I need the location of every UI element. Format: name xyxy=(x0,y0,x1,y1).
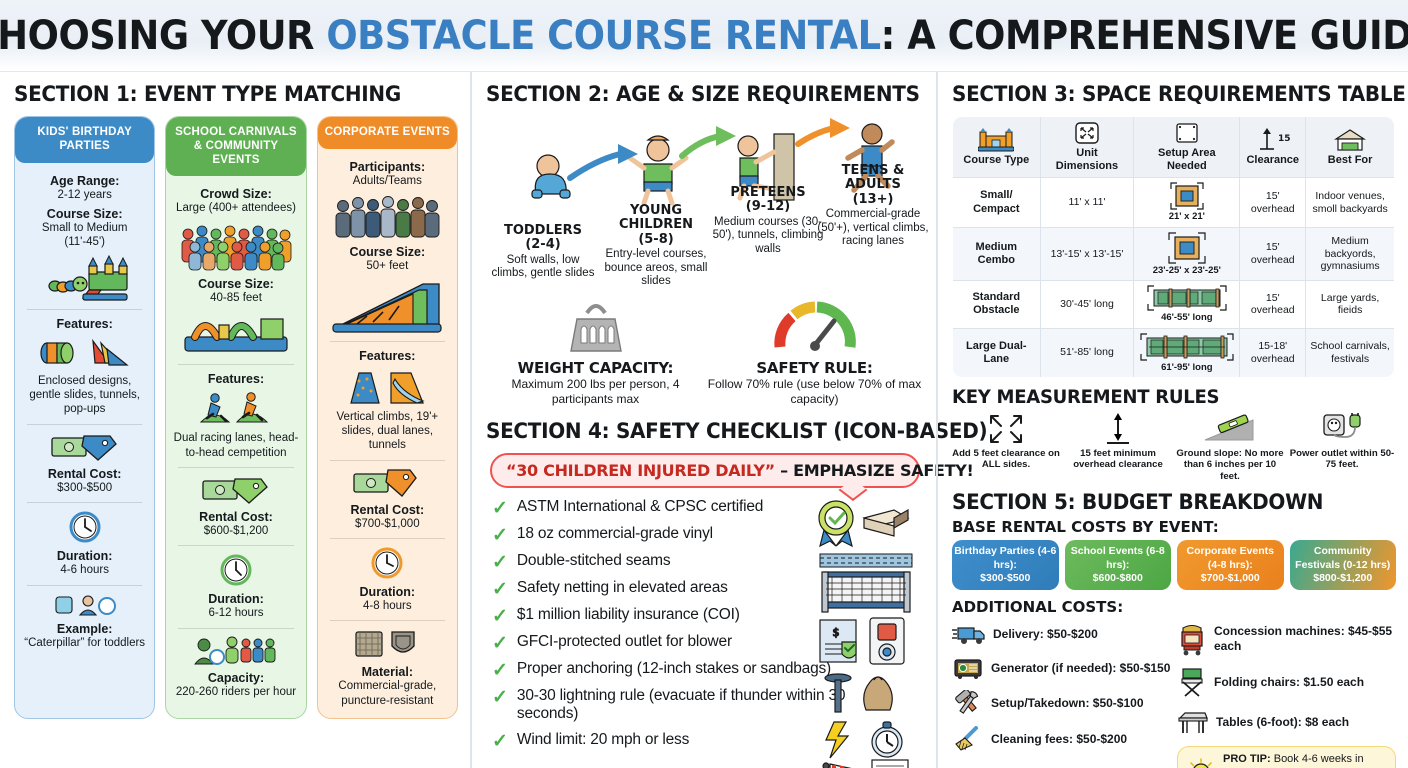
th-label: Best For xyxy=(1328,154,1373,166)
cost-label: Generator (if needed): $50-$150 xyxy=(991,661,1170,675)
clock-icon xyxy=(21,510,148,544)
row-label: Rental Cost: xyxy=(172,510,299,524)
checklist-label: Proper anchoring (12-inch stakes or sand… xyxy=(517,660,831,678)
cell-clearance: 15' overhead xyxy=(1240,178,1306,227)
expand-arrows-icon xyxy=(1044,121,1131,145)
th-label: Setup Area Needed xyxy=(1158,147,1216,172)
card-row-rental-cost: Rental Cost: $600-$1,200 xyxy=(172,510,299,538)
table-row: Medium Cembo 13'-15' x 13'-15' xyxy=(953,227,1395,280)
row-value: Enclosed designs, gentle slides, tunnels… xyxy=(21,374,148,417)
cost-delivery: Delivery: $50-$200 xyxy=(952,622,1171,646)
row-label: Rental Cost: xyxy=(21,467,148,481)
money-tag-icon xyxy=(324,468,451,498)
cost-tables: Tables (6-foot): $8 each xyxy=(1177,708,1396,736)
row-label: Capacity: xyxy=(172,671,299,685)
four-arrows-icon xyxy=(952,412,1060,446)
setup-square-medium-icon xyxy=(1137,232,1236,264)
check-icon: ✓ xyxy=(492,499,508,518)
age-title: YOUNG CHILDREN xyxy=(619,203,693,232)
cost-label: Tables (6-foot): $8 each xyxy=(1216,715,1349,729)
climb-wall-slide-icon xyxy=(324,367,451,405)
row-value: “Caterpillar” for toddlers xyxy=(21,636,148,650)
cell-clearance: 15' overhead xyxy=(1240,281,1306,328)
card-corporate-events[interactable]: CORPORATE EVENTS Participants: Adults/Te… xyxy=(317,116,458,719)
column-section-2-4: SECTION 2: AGE & SIZE REQUIREMENTS xyxy=(470,72,936,768)
setup-dim-label: 46'-55' long xyxy=(1137,312,1236,323)
table-header-row: Course Type xyxy=(953,117,1395,178)
gauge-icon xyxy=(705,299,924,355)
age-progression: TODDLERS(2-4) Soft walls, low climbs, ge… xyxy=(486,116,924,291)
row-value: Vertical climbs, 19'+ slides, dual lanes… xyxy=(324,410,451,453)
capacity-safety-row: WEIGHT CAPACITY: Maximum 200 lbs per per… xyxy=(486,295,924,407)
rule-label: Power outlet within 50-75 feet. xyxy=(1288,448,1396,471)
row-value: Small to Medium (11'-45') xyxy=(21,221,148,250)
venue-building-icon xyxy=(1309,128,1391,152)
age-group-toddlers: TODDLERS(2-4) Soft walls, low climbs, ge… xyxy=(488,224,598,281)
setup-dim-label: 61'-95' long xyxy=(1137,362,1236,373)
row-label: Features: xyxy=(21,317,148,331)
pill-name: Corporate Events (4-8 hrs): xyxy=(1186,545,1274,570)
capacity-people-icon xyxy=(172,636,299,666)
row-value: Dual racing lanes, head-to-head cempetit… xyxy=(172,431,299,460)
th-label: Course Type xyxy=(963,154,1029,166)
age-title: PRETEENS xyxy=(730,185,805,200)
th-setup-area: Setup Area Needed xyxy=(1134,117,1240,178)
cell-clearance: 15' overhead xyxy=(1240,227,1306,280)
cell-setup-area: 61'-95' long xyxy=(1134,328,1240,377)
row-label: Age Range: xyxy=(21,174,148,188)
money-tag-icon xyxy=(21,432,148,462)
card-row-course-size: Course Size: 50+ feet xyxy=(324,245,451,273)
cell-course-type: Standard Obstacle xyxy=(953,281,1041,328)
crowd-icon xyxy=(172,220,299,272)
event-type-cards: KIDS' BIRTHDAY PARTIES Age Range: 2-12 y… xyxy=(14,116,458,719)
row-label: Participants: xyxy=(324,160,451,174)
cost-concession-machines: Concession machines: $45-$55 each xyxy=(1177,622,1396,656)
age-range: (13+) xyxy=(853,192,894,207)
additional-costs: Delivery: $50-$200 Genera xyxy=(952,622,1396,768)
card-row-features: Features: xyxy=(172,372,299,386)
infographic-page: CHOOSING YOUR OBSTACLE COURSE RENTAL: A … xyxy=(0,0,1408,768)
row-label: Example: xyxy=(21,622,148,636)
cell-course-type: Small/ Cempact xyxy=(953,178,1041,227)
card-features-value: Vertical climbs, 19'+ slides, dual lanes… xyxy=(324,410,451,453)
delivery-truck-icon xyxy=(952,622,986,646)
card-features-value: Dual racing lanes, head-to-head cempetit… xyxy=(172,431,299,460)
title-accent: OBSTACLE COURSE RENTAL xyxy=(326,13,880,59)
card-title: SCHOOL CARNIVALS & COMMUNITY EVENTS xyxy=(166,117,305,176)
broom-icon xyxy=(952,726,984,752)
tall-slide-course-icon xyxy=(324,278,451,334)
additional-costs-left: Delivery: $50-$200 Genera xyxy=(952,622,1171,768)
age-range: (2-4) xyxy=(525,237,560,252)
age-range: (9-12) xyxy=(746,199,790,214)
checklist-label: ASTM International & CPSC certified xyxy=(517,498,763,516)
cost-label: Cleaning fees: $50-$200 xyxy=(991,732,1127,746)
cost-cleaning: Cleaning fees: $50-$200 xyxy=(952,726,1171,752)
card-title: KIDS' BIRTHDAY PARTIES xyxy=(15,117,154,163)
card-row-rental-cost: Rental Cost: $300-$500 xyxy=(21,467,148,495)
setup-square-small-icon xyxy=(1137,182,1236,210)
age-desc: Soft walls, low climbs, gentle slides xyxy=(488,254,598,282)
folding-chair-icon xyxy=(1177,666,1207,698)
card-row-age-range: Age Range: 2-12 years xyxy=(21,174,148,202)
check-icon: ✓ xyxy=(492,580,508,599)
space-requirements-table: Course Type xyxy=(952,116,1395,378)
cell-course-type: Large Dual-Lane xyxy=(953,328,1041,377)
cell-course-type: Medium Cembo xyxy=(953,227,1041,280)
measurement-rule: 15 feet minimum overhead clearance xyxy=(1064,412,1172,483)
checklist-label: 30-30 lightning rule (evacuate if thunde… xyxy=(517,687,847,724)
checklist-label: Safety netting in elevated areas xyxy=(517,579,728,597)
safety-rule-desc: Follow 70% rule (use below 70% of max ca… xyxy=(705,377,924,407)
row-label: Rental Cost: xyxy=(324,503,451,517)
measurement-rule: Add 5 feet clearance on ALL sides. xyxy=(952,412,1060,483)
th-course-type: Course Type xyxy=(953,117,1041,178)
row-label: Course Size: xyxy=(21,207,148,221)
row-value: $700-$1,000 xyxy=(324,517,451,531)
age-group-teens-adults: TEENS & ADULTS(13+) Commercial-grade (50… xyxy=(814,164,932,249)
power-outlet-icon xyxy=(1288,412,1396,446)
section-5-heading: SECTION 5: BUDGET BREAKDOWN xyxy=(952,490,1374,514)
column-section-1: SECTION 1: EVENT TYPE MATCHING KIDS' BIR… xyxy=(0,72,470,768)
column-section-3-5: SECTION 3: SPACE REQUIREMENTS TABLE xyxy=(936,72,1408,768)
cost-setup-takedown: Setup/Takedown: $50-$100 xyxy=(952,690,1171,716)
measurement-rules-heading: KEY MEASUREMENT RULES xyxy=(952,386,1374,408)
card-title: CORPORATE EVENTS xyxy=(318,117,457,149)
pill-birthday-parties[interactable]: Birthday Parties (4-6 hrs): $300-$500 xyxy=(952,540,1059,589)
age-desc: Entry-level courses, bounce areos, small… xyxy=(596,248,716,289)
generator-icon xyxy=(952,656,984,680)
cost-folding-chairs: Folding chairs: $1.50 each xyxy=(1177,666,1396,698)
svg-text:$: $ xyxy=(833,626,840,639)
age-desc: Commercial-grade (50'+), vertical climbs… xyxy=(814,208,932,249)
castle-icon xyxy=(956,128,1037,152)
card-row-course-size: Course Size: 40-85 feet xyxy=(172,277,299,305)
table-row: Large Dual-Lane 51'-85' long xyxy=(953,328,1395,377)
cell-unit-dimensions: 51'-85' long xyxy=(1040,328,1134,377)
th-label: Clearance xyxy=(1246,154,1299,166)
section-2-heading: SECTION 2: AGE & SIZE REQUIREMENTS xyxy=(486,82,902,106)
page-header: CHOOSING YOUR OBSTACLE COURSE RENTAL: A … xyxy=(0,0,1408,72)
weight-capacity-desc: Maximum 200 lbs per person, 4 participan… xyxy=(486,377,705,407)
age-group-young-children: YOUNG CHILDREN(5-8) Entry-level courses,… xyxy=(596,204,716,289)
card-row-participants: Participants: Adults/Teams xyxy=(324,160,451,188)
vertical-arrow-icon: 15' xyxy=(1243,128,1302,152)
section-4-heading: SECTION 4: SAFETY CHECKLIST (ICON-BASED) xyxy=(486,419,902,443)
age-desc: Medium courses (30-50'), tunnels, climbi… xyxy=(708,216,828,257)
svg-text:15': 15' xyxy=(1278,134,1290,144)
cell-best-for: Indoor venues, smoll backyards xyxy=(1306,178,1395,227)
slope-level-icon xyxy=(1176,412,1284,446)
row-label: Course Size: xyxy=(172,277,299,291)
card-row-duration: Duration: 4-8 hours xyxy=(324,585,451,613)
row-value: 220-260 riders per hour xyxy=(172,685,299,699)
row-label: Duration: xyxy=(324,585,451,599)
check-icon: ✓ xyxy=(492,688,508,707)
row-label: Duration: xyxy=(21,549,148,563)
cell-unit-dimensions: 11' x 11' xyxy=(1040,178,1134,227)
setup-dim-label: 23'-25' x 23'-25' xyxy=(1137,265,1236,276)
setup-course-long-icon xyxy=(1137,285,1236,311)
cell-unit-dimensions: 13'-15' x 13'-15' xyxy=(1040,227,1134,280)
check-icon: ✓ xyxy=(492,732,508,751)
pill-amount: $600-$800 xyxy=(1067,572,1170,585)
th-best-for: Best For xyxy=(1306,117,1395,178)
card-row-rental-cost: Rental Cost: $700-$1,000 xyxy=(324,503,451,531)
cost-label: Delivery: $50-$200 xyxy=(993,627,1098,641)
check-icon: ✓ xyxy=(492,661,508,680)
pill-school-events[interactable]: School Events (6-8 hrs): $600-$800 xyxy=(1065,540,1172,589)
rule-label: 15 feet minimum overhead clearance xyxy=(1064,448,1172,471)
cost-label: Setup/Takedown: $50-$100 xyxy=(991,696,1144,710)
rule-label: Add 5 feet clearance on ALL sides. xyxy=(952,448,1060,471)
base-rental-subheading: BASE RENTAL COSTS BY EVENT: xyxy=(952,518,1396,536)
cell-setup-area: 23'-25' x 23'-25' xyxy=(1134,227,1240,280)
checklist-label: 18 oz commercial-grade vinyl xyxy=(517,525,713,543)
setup-area-icon xyxy=(1137,121,1236,145)
row-label: Features: xyxy=(172,372,299,386)
business-team-icon xyxy=(324,192,451,240)
cell-best-for: School carnivals, festivals xyxy=(1306,328,1395,377)
lightbulb-icon xyxy=(1186,758,1216,768)
row-label: Duration: xyxy=(172,592,299,606)
weight-icon xyxy=(486,299,705,355)
cell-setup-area: 21' x 21' xyxy=(1134,178,1240,227)
pro-tip-box: PRO TIP: Book 4-6 weeks in advance for s… xyxy=(1177,746,1396,768)
card-row-course-size: Course Size: Small to Medium (11'-45') xyxy=(21,207,148,250)
card-row-features: Features: xyxy=(324,349,451,363)
pill-corporate-events[interactable]: Corporate Events (4-8 hrs): $700-$1,000 xyxy=(1177,540,1284,589)
card-school-carnivals[interactable]: SCHOOL CARNIVALS & COMMUNITY EVENTS Crow… xyxy=(165,116,306,719)
cell-best-for: Large yards, fieids xyxy=(1306,281,1395,328)
pill-community-festivals[interactable]: Community Festivals (0-12 hrs) $800-$1,2… xyxy=(1290,540,1397,589)
row-value: $300-$500 xyxy=(21,481,148,495)
pill-amount: $700-$1,000 xyxy=(1179,572,1282,585)
table-row: Standard Obstacle 30'-45' long xyxy=(953,281,1395,328)
height-arrow-icon xyxy=(1064,412,1172,446)
card-row-duration: Duration: 4-6 hours xyxy=(21,549,148,577)
cell-clearance: 15-18' overhead xyxy=(1240,328,1306,377)
card-row-features: Features: xyxy=(21,317,148,331)
row-value: 40-85 feet xyxy=(172,291,299,305)
safety-checklist: $ xyxy=(486,498,924,751)
cell-setup-area: 46'-55' long xyxy=(1134,281,1240,328)
row-value: 2-12 years xyxy=(21,188,148,202)
card-features-value: Enclosed designs, gentle slides, tunnels… xyxy=(21,374,148,417)
pro-tip-label: PRO TIP: xyxy=(1223,753,1271,765)
check-icon: ✓ xyxy=(492,607,508,626)
age-title: TEENS & ADULTS xyxy=(842,163,905,192)
pill-amount: $800-$1,200 xyxy=(1292,572,1395,585)
section-3-heading: SECTION 3: SPACE REQUIREMENTS TABLE xyxy=(952,82,1374,106)
checklist-label: Double-stitched seams xyxy=(517,552,670,570)
page-title: CHOOSING YOUR OBSTACLE COURSE RENTAL: A … xyxy=(0,13,1408,59)
clock-icon xyxy=(172,553,299,587)
safety-callout: “30 CHILDREN INJURED DAILY” – EMPHASIZE … xyxy=(490,453,920,488)
racers-icon xyxy=(172,390,299,426)
checklist-label: GFCI-protected outlet for blower xyxy=(517,633,732,651)
card-kids-birthday[interactable]: KIDS' BIRTHDAY PARTIES Age Range: 2-12 y… xyxy=(14,116,155,719)
row-value: 6-12 hours xyxy=(172,606,299,620)
cost-generator: Generator (if needed): $50-$150 xyxy=(952,656,1171,680)
measurement-rules-list: Add 5 feet clearance on ALL sides. 15 fe… xyxy=(952,412,1396,483)
material-shield-icon xyxy=(324,628,451,660)
row-value: 4-8 hours xyxy=(324,599,451,613)
content-columns: SECTION 1: EVENT TYPE MATCHING KIDS' BIR… xyxy=(0,72,1408,768)
pill-name: School Events (6-8 hrs): xyxy=(1071,545,1165,570)
tunnel-slide-icon xyxy=(21,335,148,369)
safety-rule-title: SAFETY RULE: xyxy=(705,359,924,377)
additional-costs-right: Concession machines: $45-$55 each Foldin… xyxy=(1177,622,1396,768)
title-part-1: CHOOSING YOUR xyxy=(0,13,326,59)
pill-name: Community Festivals (0-12 hrs) xyxy=(1295,545,1390,570)
callout-red-text: “30 CHILDREN INJURED DAILY” xyxy=(506,461,775,480)
clock-icon xyxy=(324,546,451,580)
row-label: Material: xyxy=(324,665,451,679)
check-icon: ✓ xyxy=(492,553,508,572)
setup-course-duallane-icon xyxy=(1137,333,1236,361)
card-row-material: Material: Commercial-grade, puncture-res… xyxy=(324,665,451,708)
row-value: Large (400+ attendees) xyxy=(172,201,299,215)
weight-capacity-block: WEIGHT CAPACITY: Maximum 200 lbs per per… xyxy=(486,295,705,407)
row-value: Adults/Teams xyxy=(324,174,451,188)
popcorn-machine-icon xyxy=(1177,622,1207,656)
title-part-2: : A COMPREHENSIVE GUIDE xyxy=(881,13,1408,59)
check-icon: ✓ xyxy=(492,526,508,545)
row-label: Crowd Size: xyxy=(172,187,299,201)
setup-dim-label: 21' x 21' xyxy=(1137,211,1236,222)
checklist-label: $1 million liability insurance (COI) xyxy=(517,606,740,624)
table-icon xyxy=(1177,708,1209,736)
row-value: 4-6 hours xyxy=(21,563,148,577)
caterpillar-example-icon xyxy=(21,593,148,617)
cell-best-for: Medium backyords, gymnasiums xyxy=(1306,227,1395,280)
row-value: $600-$1,200 xyxy=(172,524,299,538)
th-label: Unit Dimensions xyxy=(1056,147,1118,172)
money-tag-icon xyxy=(172,475,299,505)
bounce-castle-icon xyxy=(21,254,148,302)
check-icon: ✓ xyxy=(492,634,508,653)
card-row-duration: Duration: 6-12 hours xyxy=(172,592,299,620)
cost-label: Concession machines: $45-$55 each xyxy=(1214,624,1396,653)
weight-capacity-title: WEIGHT CAPACITY: xyxy=(486,359,705,377)
age-group-preteens: PRETEENS(9-12) Medium courses (30-50'), … xyxy=(708,186,828,257)
additional-costs-heading: ADDITIONAL COSTS: xyxy=(952,598,1396,616)
pill-amount: $300-$500 xyxy=(954,572,1057,585)
measurement-rule: Ground slope: No more than 6 inches per … xyxy=(1176,412,1284,483)
checklist-label: Wind limit: 20 mph or less xyxy=(517,731,689,749)
age-title: TODDLERS xyxy=(504,223,582,238)
pill-name: Birthday Parties (4-6 hrs): xyxy=(954,545,1056,570)
card-row-example: Example: “Caterpillar” for toddlers xyxy=(21,622,148,650)
rule-label: Ground slope: No more than 6 inches per … xyxy=(1176,448,1284,483)
age-range: (5-8) xyxy=(638,232,673,247)
row-value: 50+ feet xyxy=(324,259,451,273)
row-label: Features: xyxy=(324,349,451,363)
section-1-heading: SECTION 1: EVENT TYPE MATCHING xyxy=(14,82,436,106)
row-value: Commercial-grade, puncture-resistant xyxy=(324,679,451,708)
card-row-capacity: Capacity: 220-260 riders per hour xyxy=(172,671,299,699)
card-row-crowd-size: Crowd Size: Large (400+ attendees) xyxy=(172,187,299,215)
obstacle-course-icon xyxy=(172,309,299,357)
measurement-rule: Power outlet within 50-75 feet. xyxy=(1288,412,1396,483)
th-unit-dimensions: Unit Dimensions xyxy=(1040,117,1134,178)
safety-rule-block: SAFETY RULE: Follow 70% rule (use below … xyxy=(705,295,924,407)
cost-label: Folding chairs: $1.50 each xyxy=(1214,675,1364,689)
table-row: Small/ Cempact 11' x 11' xyxy=(953,178,1395,227)
th-clearance: 15' Clearance xyxy=(1240,117,1306,178)
tools-icon xyxy=(952,690,984,716)
cell-unit-dimensions: 30'-45' long xyxy=(1040,281,1134,328)
base-rental-pills: Birthday Parties (4-6 hrs): $300-$500 Sc… xyxy=(952,540,1396,589)
row-label: Course Size: xyxy=(324,245,451,259)
